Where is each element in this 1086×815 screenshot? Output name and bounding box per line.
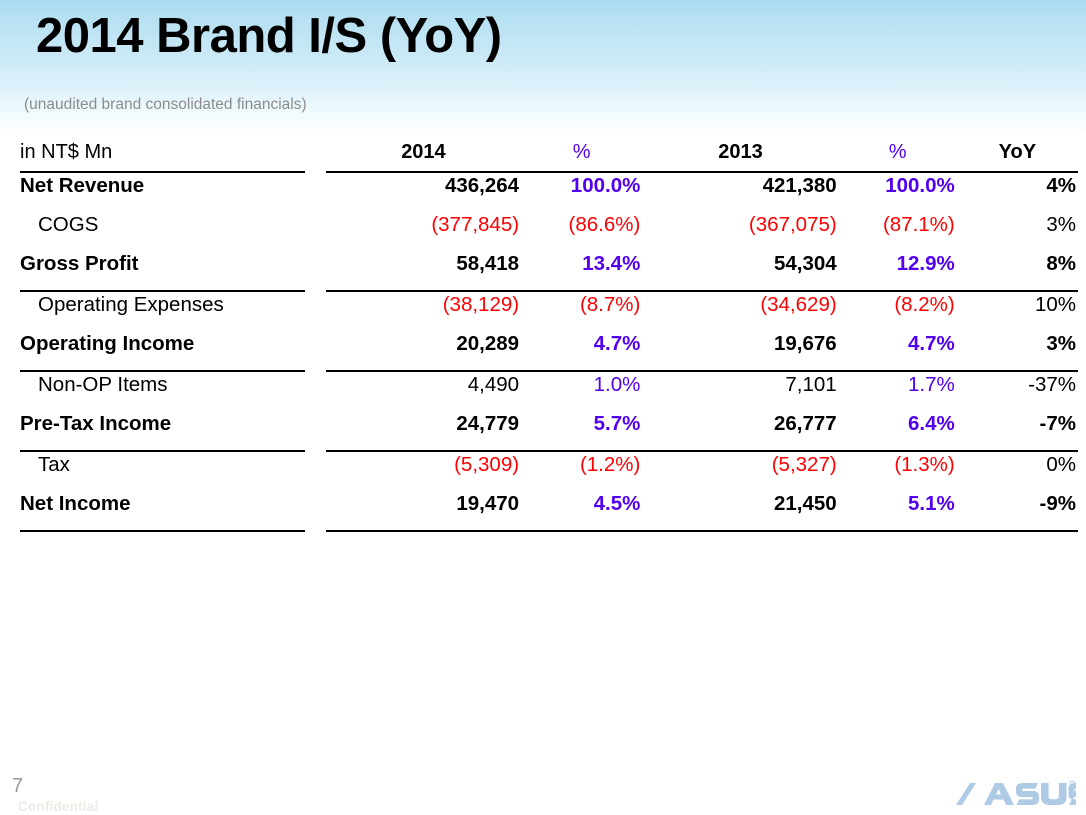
column-spacer xyxy=(305,372,325,411)
page-number: 7 xyxy=(12,775,23,798)
row-value-2013: 26,777 xyxy=(642,411,838,452)
row-value-2013: 19,676 xyxy=(642,331,838,372)
row-value-2014-cell: (5,309) xyxy=(326,452,521,491)
row-label-cell: Non-OP Items xyxy=(20,372,305,411)
header-label-text: in NT$ Mn xyxy=(20,138,305,173)
header-cell-yoy: YoY xyxy=(957,138,1078,173)
row-value-2013-cell: 26,777 xyxy=(642,411,838,452)
row-yoy: -9% xyxy=(957,491,1078,532)
header-cell-pct-2014: % xyxy=(521,138,642,173)
row-value-2014: 436,264 xyxy=(326,173,521,212)
row-value-2014: 24,779 xyxy=(326,411,521,452)
row-value-2013-cell: 7,101 xyxy=(642,372,838,411)
row-yoy-cell: -7% xyxy=(957,411,1078,452)
row-label-cell: Tax xyxy=(20,452,305,491)
row-yoy-cell: 3% xyxy=(957,212,1078,251)
column-spacer xyxy=(305,138,325,173)
row-value-2014-cell: 436,264 xyxy=(326,173,521,212)
row-yoy-cell: -37% xyxy=(957,372,1078,411)
header-cell-2013: 2013 xyxy=(642,138,838,173)
row-pct-2014: 4.7% xyxy=(521,331,642,372)
row-value-2013-cell: (367,075) xyxy=(642,212,838,251)
table-row: Tax (5,309) (1.2%) (5,327) (1.3%) 0% xyxy=(20,452,1078,491)
row-value-2013-cell: 19,676 xyxy=(642,331,838,372)
row-value-2013-cell: (34,629) xyxy=(642,292,838,331)
row-pct-2013: 1.7% xyxy=(839,372,957,411)
row-pct-2013: 100.0% xyxy=(839,173,957,212)
row-label-cell: Gross Profit xyxy=(20,251,305,292)
row-pct-2013-cell: 6.4% xyxy=(839,411,957,452)
row-label-cell: Operating Expenses xyxy=(20,292,305,331)
row-pct-2014: 100.0% xyxy=(521,173,642,212)
column-spacer xyxy=(305,292,325,331)
row-label-cell: Net Revenue xyxy=(20,173,305,212)
row-value-2014-cell: 4,490 xyxy=(326,372,521,411)
row-pct-2013-cell: 12.9% xyxy=(839,251,957,292)
row-pct-2013: 4.7% xyxy=(839,331,957,372)
row-pct-2014: 5.7% xyxy=(521,411,642,452)
row-label: COGS xyxy=(20,212,305,251)
table-row: Gross Profit 58,418 13.4% 54,304 12.9% 8… xyxy=(20,251,1078,292)
row-value-2013-cell: (5,327) xyxy=(642,452,838,491)
row-value-2013: (5,327) xyxy=(642,452,838,491)
row-pct-2013: 12.9% xyxy=(839,251,957,292)
row-yoy: 0% xyxy=(957,452,1078,491)
row-value-2013: 421,380 xyxy=(642,173,838,212)
row-pct-2014: 1.0% xyxy=(521,372,642,411)
table-row: Operating Income 20,289 4.7% 19,676 4.7%… xyxy=(20,331,1078,372)
row-pct-2013: (87.1%) xyxy=(839,212,957,251)
page-subtitle: (unaudited brand consolidated financials… xyxy=(24,96,307,114)
row-value-2013: 7,101 xyxy=(642,372,838,411)
header-2013-text: 2013 xyxy=(642,138,838,173)
row-value-2013-cell: 54,304 xyxy=(642,251,838,292)
row-pct-2014-cell: 4.5% xyxy=(521,491,642,532)
table-row: Pre-Tax Income 24,779 5.7% 26,777 6.4% -… xyxy=(20,411,1078,452)
row-pct-2013-cell: 1.7% xyxy=(839,372,957,411)
row-yoy-cell: 8% xyxy=(957,251,1078,292)
header-yoy-text: YoY xyxy=(957,138,1078,173)
table-row: Operating Expenses (38,129) (8.7%) (34,6… xyxy=(20,292,1078,331)
row-label: Operating Income xyxy=(20,331,305,372)
table-row: Non-OP Items 4,490 1.0% 7,101 1.7% -37% xyxy=(20,372,1078,411)
row-pct-2014-cell: (8.7%) xyxy=(521,292,642,331)
row-value-2013-cell: 421,380 xyxy=(642,173,838,212)
row-value-2014-cell: 20,289 xyxy=(326,331,521,372)
row-pct-2013-cell: (1.3%) xyxy=(839,452,957,491)
column-spacer xyxy=(305,173,325,212)
column-spacer xyxy=(305,251,325,292)
asus-logo xyxy=(954,779,1076,809)
row-pct-2013: 6.4% xyxy=(839,411,957,452)
row-value-2014: 19,470 xyxy=(326,491,521,532)
column-spacer xyxy=(305,452,325,491)
column-spacer xyxy=(305,491,325,532)
row-pct-2013-cell: (87.1%) xyxy=(839,212,957,251)
slide-canvas: 2014 Brand I/S (YoY) (unaudited brand co… xyxy=(0,0,1086,815)
row-value-2013: (367,075) xyxy=(642,212,838,251)
row-pct-2014: (8.7%) xyxy=(521,292,642,331)
row-value-2014: (38,129) xyxy=(326,292,521,331)
row-pct-2014-cell: 4.7% xyxy=(521,331,642,372)
row-label: Net Income xyxy=(20,491,305,532)
row-pct-2014-cell: 100.0% xyxy=(521,173,642,212)
row-value-2014: (5,309) xyxy=(326,452,521,491)
row-yoy: 3% xyxy=(957,331,1078,372)
header-cell-2014: 2014 xyxy=(326,138,521,173)
row-label: Net Revenue xyxy=(20,173,305,212)
row-label: Tax xyxy=(20,452,305,491)
row-pct-2014: 13.4% xyxy=(521,251,642,292)
row-pct-2014-cell: (1.2%) xyxy=(521,452,642,491)
row-value-2014-cell: 24,779 xyxy=(326,411,521,452)
row-value-2014: 4,490 xyxy=(326,372,521,411)
row-yoy-cell: 10% xyxy=(957,292,1078,331)
row-yoy: 3% xyxy=(957,212,1078,251)
row-pct-2014-cell: (86.6%) xyxy=(521,212,642,251)
row-pct-2014-cell: 1.0% xyxy=(521,372,642,411)
header-pct-2014-text: % xyxy=(521,138,642,173)
row-label-cell: Operating Income xyxy=(20,331,305,372)
header-pct-2013-text: % xyxy=(839,138,957,173)
row-pct-2013: (8.2%) xyxy=(839,292,957,331)
table-row: Net Revenue 436,264 100.0% 421,380 100.0… xyxy=(20,173,1078,212)
row-yoy: 4% xyxy=(957,173,1078,212)
row-yoy-cell: 0% xyxy=(957,452,1078,491)
table-row: COGS (377,845) (86.6%) (367,075) (87.1%)… xyxy=(20,212,1078,251)
row-value-2014: (377,845) xyxy=(326,212,521,251)
row-label: Gross Profit xyxy=(20,251,305,292)
row-pct-2013: (1.3%) xyxy=(839,452,957,491)
row-pct-2013-cell: 5.1% xyxy=(839,491,957,532)
row-value-2013: 21,450 xyxy=(642,491,838,532)
row-label-cell: COGS xyxy=(20,212,305,251)
table-header-row: in NT$ Mn 2014 % 2013 % YoY xyxy=(20,138,1078,173)
row-value-2014-cell: 58,418 xyxy=(326,251,521,292)
row-pct-2014: (86.6%) xyxy=(521,212,642,251)
row-value-2014-cell: (377,845) xyxy=(326,212,521,251)
income-statement-table: in NT$ Mn 2014 % 2013 % YoY xyxy=(20,138,1078,532)
confidential-watermark: Confidential xyxy=(18,799,98,814)
row-pct-2014-cell: 5.7% xyxy=(521,411,642,452)
row-pct-2014: 4.5% xyxy=(521,491,642,532)
column-spacer xyxy=(305,212,325,251)
column-spacer xyxy=(305,411,325,452)
row-label: Non-OP Items xyxy=(20,372,305,411)
row-yoy: 8% xyxy=(957,251,1078,292)
row-value-2014-cell: (38,129) xyxy=(326,292,521,331)
table-row: Net Income 19,470 4.5% 21,450 5.1% -9% xyxy=(20,491,1078,532)
row-pct-2014: (1.2%) xyxy=(521,452,642,491)
row-pct-2013: 5.1% xyxy=(839,491,957,532)
row-label: Operating Expenses xyxy=(20,292,305,331)
row-pct-2014-cell: 13.4% xyxy=(521,251,642,292)
row-yoy: 10% xyxy=(957,292,1078,331)
row-pct-2013-cell: 4.7% xyxy=(839,331,957,372)
page-title: 2014 Brand I/S (YoY) xyxy=(36,8,502,64)
row-value-2013-cell: 21,450 xyxy=(642,491,838,532)
row-yoy: -7% xyxy=(957,411,1078,452)
row-pct-2013-cell: 100.0% xyxy=(839,173,957,212)
row-label: Pre-Tax Income xyxy=(20,411,305,452)
row-pct-2013-cell: (8.2%) xyxy=(839,292,957,331)
header-cell-label: in NT$ Mn xyxy=(20,138,305,173)
row-label-cell: Pre-Tax Income xyxy=(20,411,305,452)
row-value-2014: 20,289 xyxy=(326,331,521,372)
header-cell-pct-2013: % xyxy=(839,138,957,173)
row-yoy-cell: 4% xyxy=(957,173,1078,212)
row-yoy: -37% xyxy=(957,372,1078,411)
row-value-2014: 58,418 xyxy=(326,251,521,292)
row-yoy-cell: -9% xyxy=(957,491,1078,532)
row-value-2013: (34,629) xyxy=(642,292,838,331)
row-label-cell: Net Income xyxy=(20,491,305,532)
header-2014-text: 2014 xyxy=(326,138,521,173)
column-spacer xyxy=(305,331,325,372)
row-value-2013: 54,304 xyxy=(642,251,838,292)
row-value-2014-cell: 19,470 xyxy=(326,491,521,532)
row-yoy-cell: 3% xyxy=(957,331,1078,372)
